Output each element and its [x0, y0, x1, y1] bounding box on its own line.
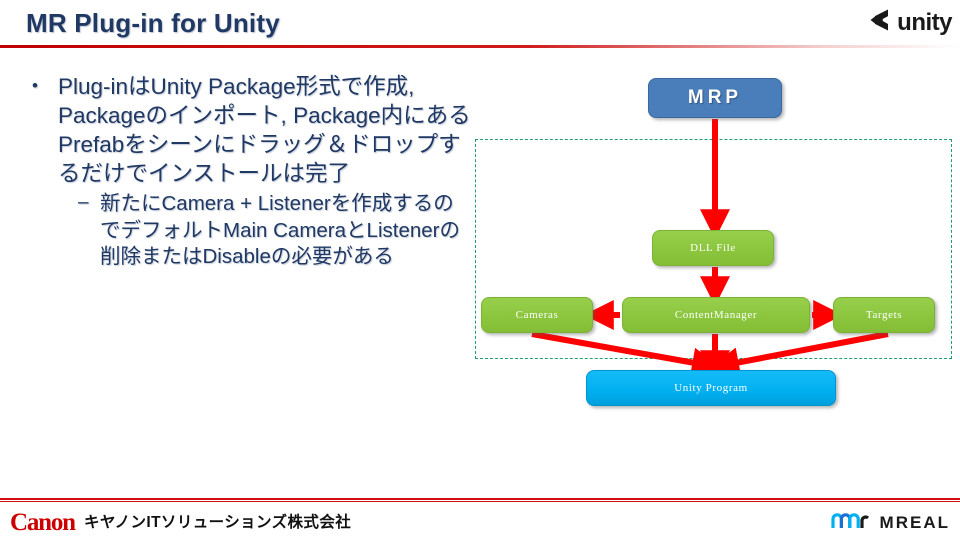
page-title: MR Plug-in for Unity — [26, 8, 280, 39]
unity-logo-text: unity — [897, 11, 952, 35]
diagram-node-dll-file[interactable]: DLL File — [652, 230, 774, 266]
bullet-marker: • — [24, 72, 58, 100]
diagram-node-targets[interactable]: Targets — [833, 297, 935, 333]
diagram-node-cameras[interactable]: Cameras — [481, 297, 593, 333]
bullet-level1-text: Plug-inはUnity Package形式で作成, Packageのインポー… — [58, 72, 474, 188]
slide-body: • Plug-inはUnity Package形式で作成, Packageのイン… — [24, 72, 474, 271]
sub-bullet-marker: – — [78, 191, 100, 215]
mreal-wave-icon — [831, 510, 873, 535]
diagram-node-unity-program[interactable]: Unity Program — [586, 370, 836, 406]
mreal-logo-text: MREAL — [880, 514, 950, 531]
canon-logo: Canon — [10, 510, 75, 535]
title-divider — [0, 45, 960, 48]
footer-divider — [0, 498, 960, 502]
unity-cube-icon — [867, 6, 895, 39]
architecture-diagram: MRP DLL File Cameras ContentManager Targ… — [470, 68, 954, 388]
bullet-level2-text: 新たにCamera + Listenerを作成するのでデフォルトMain Cam… — [100, 191, 474, 271]
slide-footer: Canon キヤノンITソリューションズ株式会社 MREAL — [0, 504, 960, 540]
diagram-node-content-manager[interactable]: ContentManager — [622, 297, 810, 333]
bullet-level2: – 新たにCamera + Listenerを作成するのでデフォルトMain C… — [24, 191, 474, 271]
bullet-level1: • Plug-inはUnity Package形式で作成, Packageのイン… — [24, 72, 474, 188]
company-name: キヤノンITソリューションズ株式会社 — [84, 515, 351, 531]
mreal-logo: MREAL — [831, 510, 950, 535]
diagram-node-mrp[interactable]: MRP — [648, 78, 782, 118]
unity-logo: unity — [867, 6, 952, 39]
